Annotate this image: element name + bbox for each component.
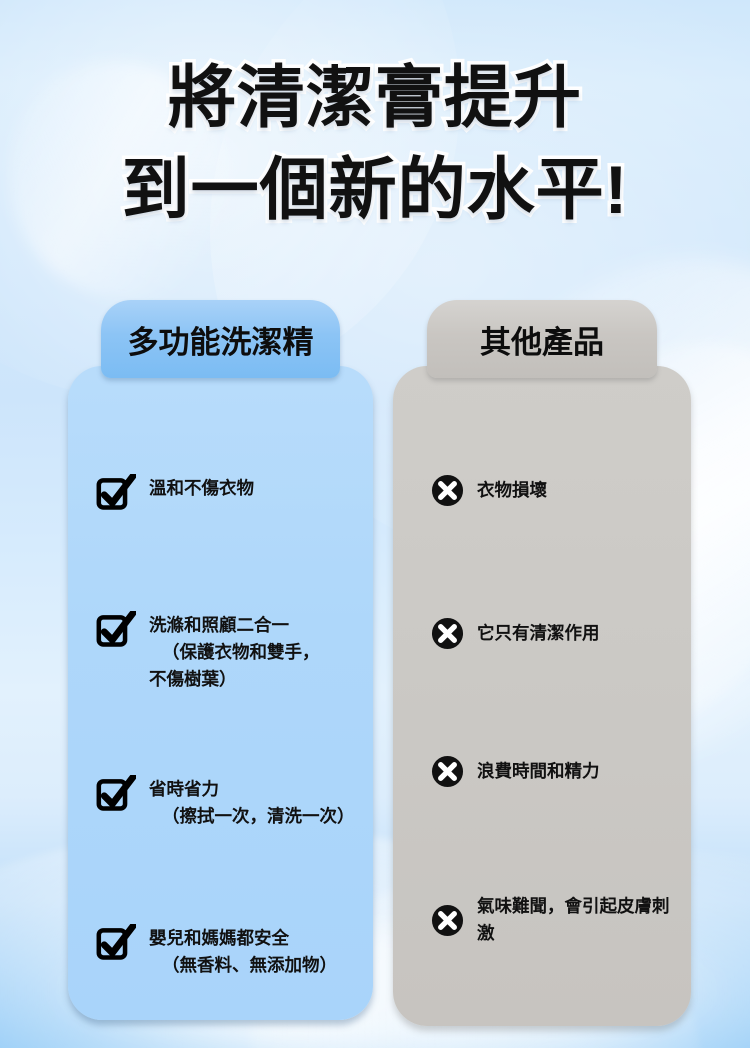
feature-text: 浪費時間和精力 (477, 758, 600, 785)
feature-main-text: 洗滌和照顧二合一 (149, 612, 320, 639)
headline-line-1: 將清潔膏提升 (0, 52, 750, 144)
feature-text: 省時省力 （擦拭一次，清洗一次） (149, 773, 355, 830)
feature-sub-text: （擦拭一次，清洗一次） (149, 803, 355, 830)
circle-x-icon (431, 904, 464, 937)
product-column-our-detergent: 多功能洗潔精 溫和不傷衣物 (68, 300, 373, 1020)
circle-x-icon (431, 617, 464, 650)
feature-row: 它只有清潔作用 (407, 617, 677, 650)
feature-sub-text: （保護衣物和雙手， (149, 639, 320, 666)
feature-text: 衣物損壞 (477, 477, 547, 504)
feature-text: 它只有清潔作用 (477, 620, 600, 647)
headline-line-2: 到一個新的水平! (0, 144, 750, 236)
feature-main-text: 浪費時間和精力 (477, 758, 600, 785)
feature-row: 省時省力 （擦拭一次，清洗一次） (82, 773, 359, 830)
circle-x-icon (431, 474, 464, 507)
feature-text: 溫和不傷衣物 (149, 472, 254, 502)
our-product-header: 多功能洗潔精 (101, 300, 340, 378)
feature-row: 衣物損壞 (407, 474, 677, 507)
our-product-feature-card: 溫和不傷衣物 洗滌和照顧二合一 （保護衣物和雙手， 不傷樹葉） (68, 366, 373, 1020)
comparison-section: 多功能洗潔精 溫和不傷衣物 (0, 300, 750, 1010)
other-product-header: 其他產品 (427, 300, 657, 378)
feature-row: 氣味難聞，會引起皮膚刺激 (407, 893, 677, 947)
feature-row: 溫和不傷衣物 (82, 472, 359, 512)
check-box-icon (96, 924, 136, 962)
feature-row: 嬰兒和媽媽都安全 （無香料、無添加物） (82, 922, 359, 979)
check-box-icon (96, 775, 136, 813)
feature-row: 浪費時間和精力 (407, 755, 677, 788)
feature-main-text: 嬰兒和媽媽都安全 (149, 925, 337, 952)
feature-main-text: 氣味難聞，會引起皮膚刺激 (477, 893, 677, 947)
check-box-icon (96, 474, 136, 512)
feature-main-text: 省時省力 (149, 776, 355, 803)
feature-main-text: 溫和不傷衣物 (149, 475, 254, 502)
feature-text: 氣味難聞，會引起皮膚刺激 (477, 893, 677, 947)
feature-main-text: 它只有清潔作用 (477, 620, 600, 647)
check-box-icon (96, 611, 136, 649)
product-column-other-products: 其他產品 衣物損壞 (393, 300, 691, 1026)
circle-x-icon (431, 755, 464, 788)
feature-main-text: 衣物損壞 (477, 477, 547, 504)
feature-text: 嬰兒和媽媽都安全 （無香料、無添加物） (149, 922, 337, 979)
feature-sub-text: 不傷樹葉） (149, 666, 320, 693)
headline-block: 將清潔膏提升 到一個新的水平! (0, 52, 750, 236)
feature-sub-text: （無香料、無添加物） (149, 952, 337, 979)
feature-text: 洗滌和照顧二合一 （保護衣物和雙手， 不傷樹葉） (149, 609, 320, 693)
other-product-feature-card: 衣物損壞 它只有清潔作用 (393, 366, 691, 1026)
feature-row: 洗滌和照顧二合一 （保護衣物和雙手， 不傷樹葉） (82, 609, 359, 693)
